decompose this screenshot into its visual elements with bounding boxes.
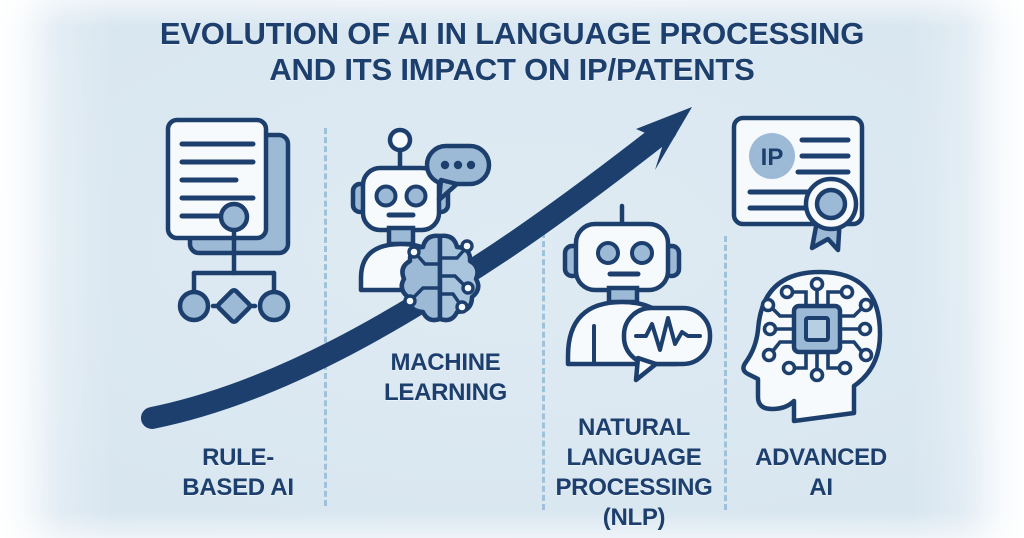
ip-certificate-icon: IP bbox=[728, 112, 868, 252]
caption-line: PROCESSING bbox=[548, 473, 720, 503]
caption-line: NATURAL bbox=[548, 413, 720, 443]
robot-speech-waveform-icon bbox=[552, 206, 722, 391]
stage-label-rule-based-ai: RULE- BASED AI bbox=[168, 443, 308, 503]
stage-rule-based-ai bbox=[150, 110, 315, 325]
stage-label-advanced-ai: ADVANCED AI bbox=[736, 443, 906, 503]
stage-natural-language-processing bbox=[552, 206, 722, 391]
caption-line: AI bbox=[736, 473, 906, 503]
caption-line: LANGUAGE bbox=[548, 443, 720, 473]
ip-badge-text: IP bbox=[761, 144, 784, 171]
caption-line: MACHINE bbox=[358, 348, 533, 378]
caption-line: ADVANCED bbox=[736, 443, 906, 473]
document-flowchart-icon bbox=[150, 110, 315, 325]
robot-brain-icon bbox=[345, 118, 535, 323]
stage-machine-learning bbox=[345, 118, 535, 323]
caption-line: BASED AI bbox=[168, 473, 308, 503]
caption-line: (NLP) bbox=[548, 503, 720, 533]
infographic-canvas: EVOLUTION OF AI IN LANGUAGE PROCESSING A… bbox=[0, 0, 1024, 538]
stage-label-nlp: NATURAL LANGUAGE PROCESSING (NLP) bbox=[548, 413, 720, 533]
stage-label-machine-learning: MACHINE LEARNING bbox=[358, 348, 533, 408]
chip-head-icon bbox=[742, 258, 892, 418]
caption-line: RULE- bbox=[168, 443, 308, 473]
caption-line: LEARNING bbox=[358, 378, 533, 408]
